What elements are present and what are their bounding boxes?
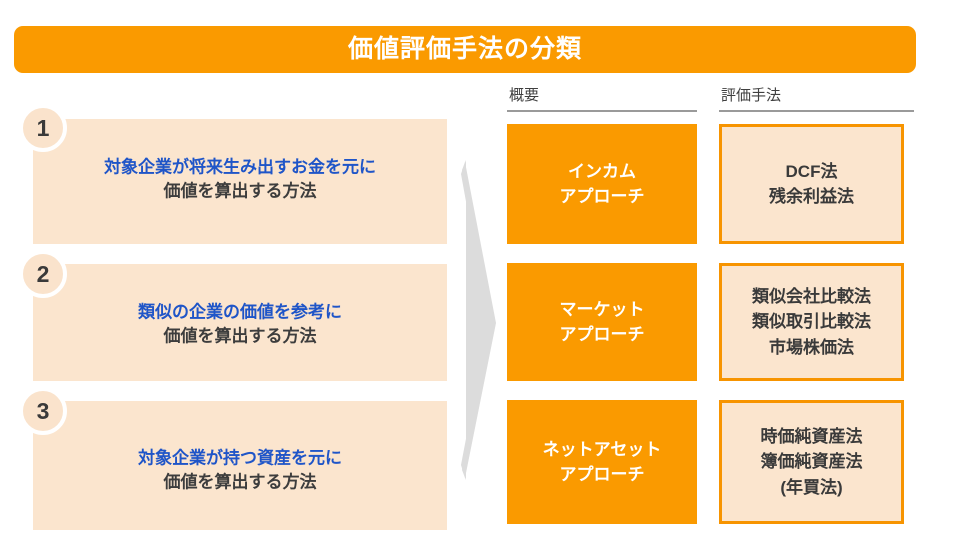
- step-number-label: 3: [37, 400, 50, 423]
- description-text-1: 対象企業が将来生み出すお金を元に 価値を算出する方法: [33, 155, 447, 204]
- column-header-overview: 概要: [507, 84, 697, 112]
- description-text-2: 類似の企業の価値を参考に 価値を算出する方法: [33, 300, 447, 349]
- description-line-secondary: 価値を算出する方法: [33, 180, 447, 205]
- method-label: DCF法 残余利益法: [769, 159, 854, 210]
- description-block-1: 対象企業が将来生み出すお金を元に 価値を算出する方法: [33, 119, 447, 244]
- column-header-methods: 評価手法: [719, 84, 914, 112]
- column-header-rule: [507, 110, 697, 112]
- method-label: 類似会社比較法 類似取引比較法 市場株価法: [752, 284, 871, 361]
- page-title: 価値評価手法の分類: [348, 37, 582, 62]
- description-text-3: 対象企業が持つ資産を元に 価値を算出する方法: [33, 446, 447, 495]
- approach-box-3: ネットアセット アプローチ: [507, 400, 697, 524]
- column-header-rule: [719, 110, 914, 112]
- description-line-secondary: 価値を算出する方法: [33, 470, 447, 495]
- description-line-secondary: 価値を算出する方法: [33, 324, 447, 349]
- column-header-overview-label: 概要: [507, 84, 697, 110]
- step-badge-3: 3: [19, 387, 67, 435]
- flow-arrow-icon: [452, 160, 498, 480]
- approach-box-1: インカム アプローチ: [507, 124, 697, 244]
- approach-box-2: マーケット アプローチ: [507, 263, 697, 381]
- method-box-1: DCF法 残余利益法: [719, 124, 904, 244]
- column-header-methods-label: 評価手法: [719, 84, 914, 110]
- method-label: 時価純資産法 簿価純資産法 (年買法): [761, 424, 863, 501]
- step-number-label: 1: [37, 117, 50, 140]
- approach-label: インカム アプローチ: [560, 159, 645, 210]
- title-banner: 価値評価手法の分類: [14, 26, 916, 73]
- description-line-primary: 対象企業が持つ資産を元に: [33, 446, 447, 471]
- method-box-3: 時価純資産法 簿価純資産法 (年買法): [719, 400, 904, 524]
- description-block-3: 対象企業が持つ資産を元に 価値を算出する方法: [33, 401, 447, 530]
- step-badge-1: 1: [19, 104, 67, 152]
- approach-label: ネットアセット アプローチ: [543, 437, 662, 488]
- description-block-2: 類似の企業の価値を参考に 価値を算出する方法: [33, 264, 447, 381]
- step-badge-2: 2: [19, 250, 67, 298]
- approach-label: マーケット アプローチ: [560, 297, 645, 348]
- description-line-primary: 対象企業が将来生み出すお金を元に: [33, 155, 447, 180]
- description-line-primary: 類似の企業の価値を参考に: [33, 300, 447, 325]
- step-number-label: 2: [37, 263, 50, 286]
- method-box-2: 類似会社比較法 類似取引比較法 市場株価法: [719, 263, 904, 381]
